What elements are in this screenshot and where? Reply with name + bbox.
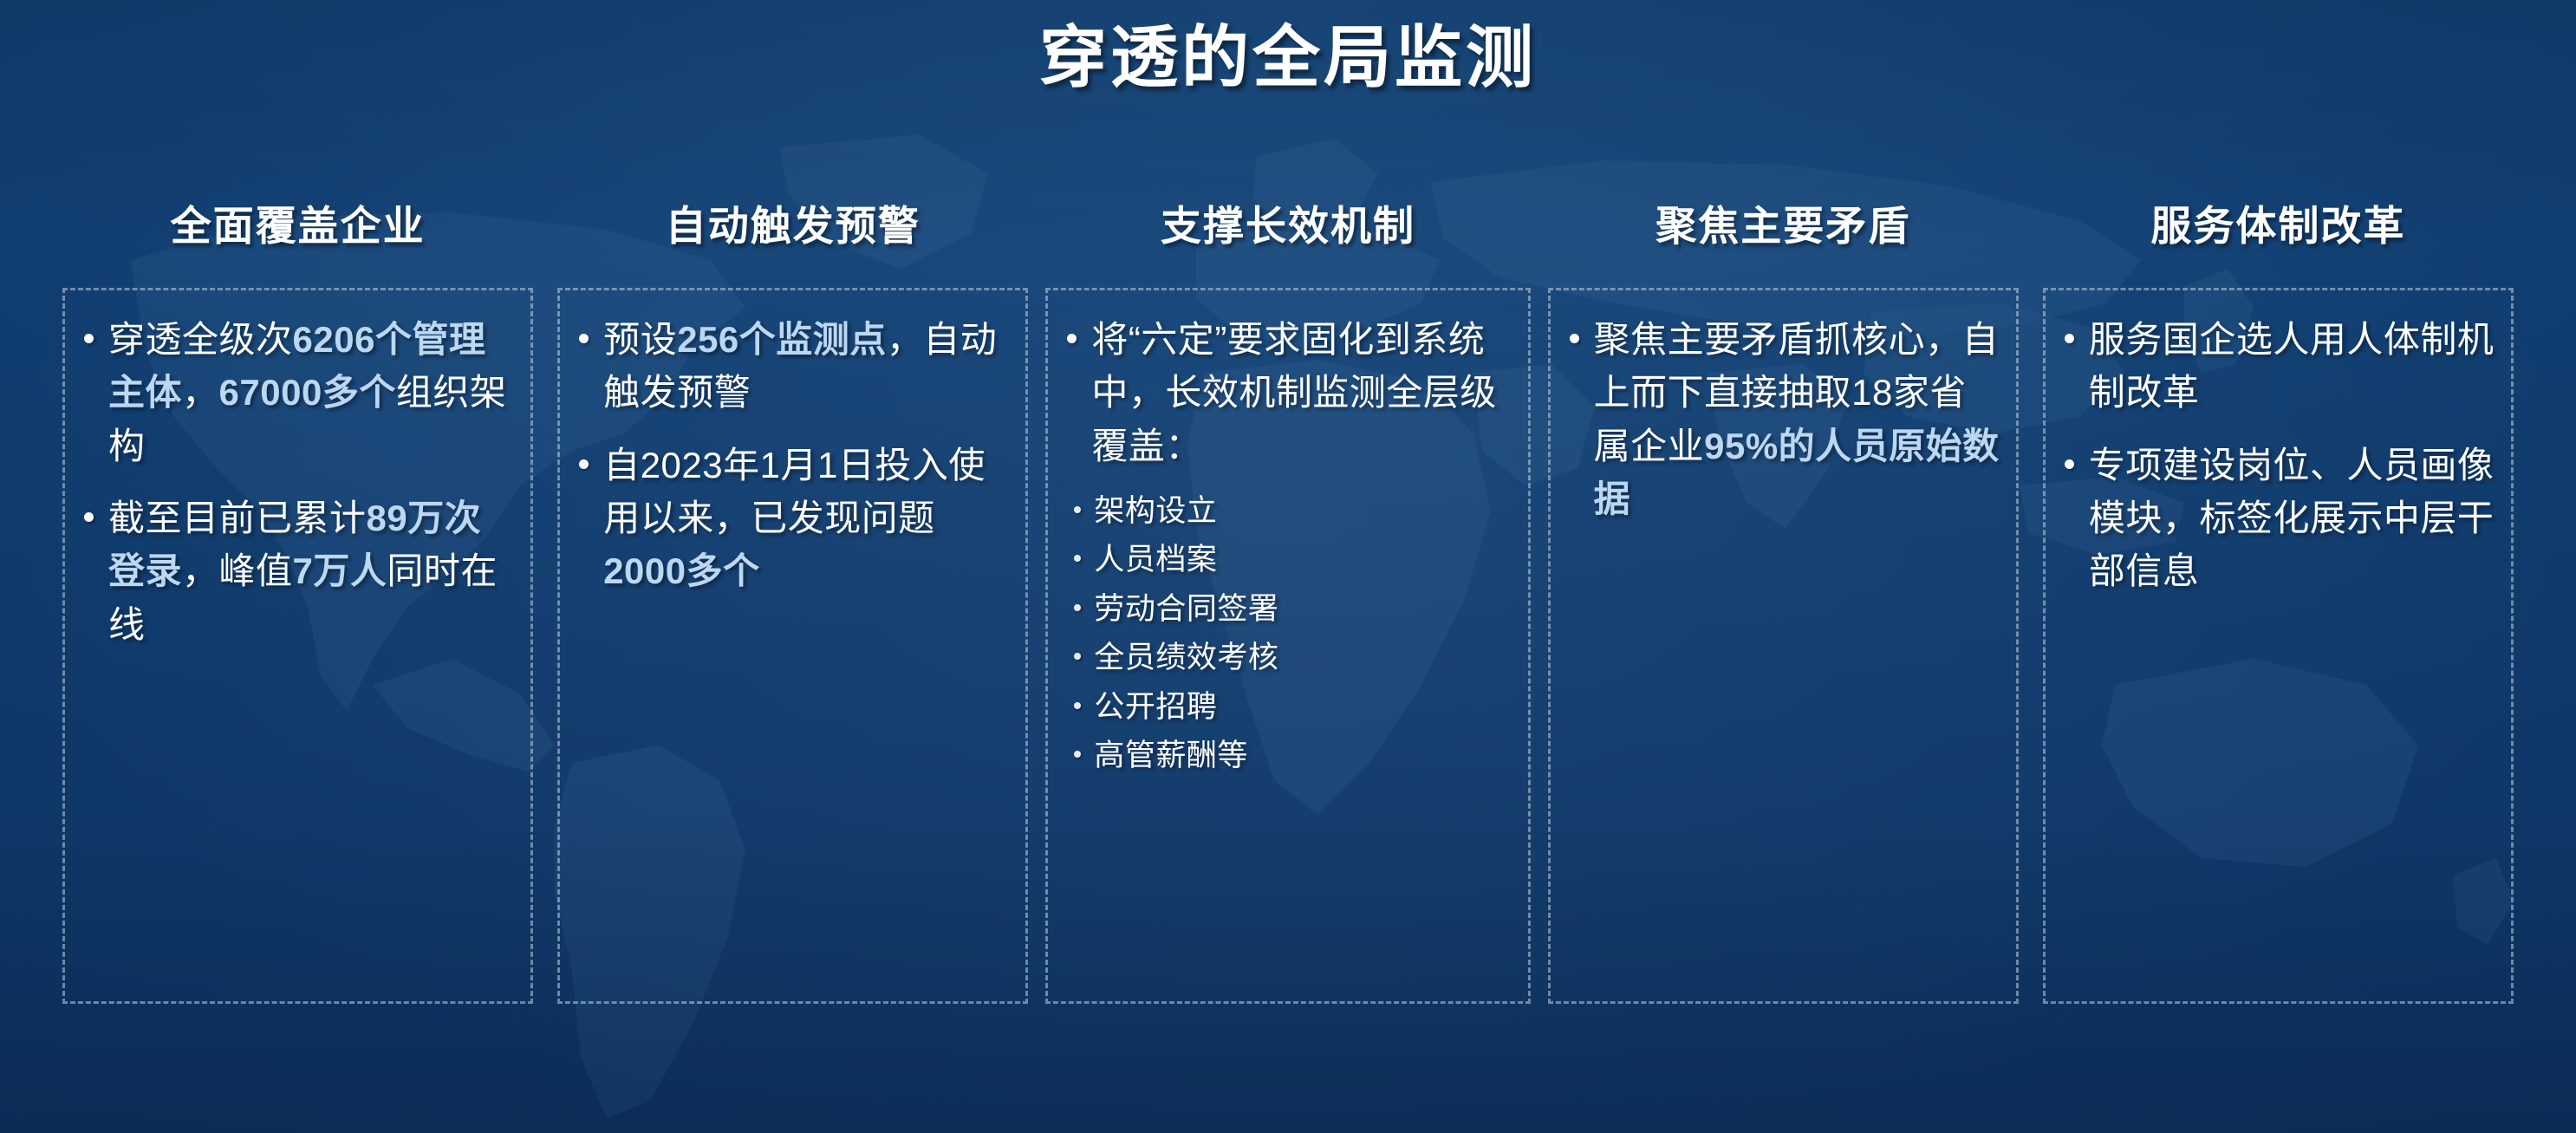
sub-list-item: 人员档案: [1069, 540, 1512, 580]
column-header: 服务体制改革: [2031, 192, 2526, 252]
sub-bullet-text: 公开招聘: [1094, 687, 1217, 727]
list-item: 预设256个监测点，自动触发预警: [576, 313, 1010, 420]
bullet-dot-icon: [579, 459, 589, 469]
sub-list-item: 架构设立: [1069, 492, 1512, 531]
column-header: 聚焦主要矛盾: [1536, 192, 2031, 252]
sub-list-item: 高管薪酬等: [1069, 736, 1512, 776]
column-content-box: 预设256个监测点，自动触发预警 自2023年1月1日投入使用以来，已发现问题2…: [557, 288, 1028, 1004]
bullet-text: 专项建设岗位、人员画像模块，标签化展示中层干部信息: [2089, 439, 2495, 598]
list-item: 自2023年1月1日投入使用以来，已发现问题2000多个: [576, 439, 1010, 598]
bullet-dot-icon: [1067, 334, 1077, 343]
list-item: 聚焦主要矛盾抓核心，自上而下直接抽取18家省属企业95%的人员原始数据: [1566, 313, 2000, 525]
list-item: 截至目前已累计89万次登录，峰值7万人同时在线: [81, 492, 515, 651]
bullet-list: 服务国企选人用人体制机制改革 专项建设岗位、人员画像模块，标签化展示中层干部信息: [2061, 313, 2495, 598]
column-auto-alert: 自动触发预警 预设256个监测点，自动触发预警 自2023年1月1日投入使用以来…: [545, 192, 1040, 1004]
bullet-dot-icon: [84, 334, 94, 343]
sub-bullet-dot-icon: [1074, 751, 1081, 758]
bullet-dot-icon: [2065, 459, 2074, 469]
sub-bullet-text: 高管薪酬等: [1094, 736, 1248, 776]
sub-bullet-dot-icon: [1074, 506, 1081, 513]
bullet-text: 截至目前已累计89万次登录，峰值7万人同时在线: [108, 492, 515, 651]
bullet-text: 将“六定”要求固化到系统中，长效机制监测全层级覆盖：: [1091, 313, 1512, 472]
column-header: 全面覆盖企业: [50, 192, 545, 252]
column-long-term-mechanism: 支撑长效机制 将“六定”要求固化到系统中，长效机制监测全层级覆盖： 架构设立 人…: [1040, 192, 1535, 1004]
sub-list-item: 劳动合同签署: [1069, 589, 1512, 629]
columns-container: 全面覆盖企业 穿透全级次6206个管理主体，67000多个组织架构 截至目前已累…: [0, 192, 2576, 1004]
bullet-text: 聚焦主要矛盾抓核心，自上而下直接抽取18家省属企业95%的人员原始数据: [1594, 313, 2000, 525]
column-content-box: 穿透全级次6206个管理主体，67000多个组织架构 截至目前已累计89万次登录…: [62, 288, 533, 1004]
sub-bullet-text: 全员绩效考核: [1094, 638, 1278, 678]
sub-bullet-dot-icon: [1074, 653, 1081, 660]
bullet-text: 自2023年1月1日投入使用以来，已发现问题2000多个: [603, 439, 1010, 598]
bullet-dot-icon: [84, 512, 94, 522]
bullet-text: 穿透全级次6206个管理主体，67000多个组织架构: [108, 313, 515, 472]
sub-list-item: 公开招聘: [1069, 687, 1512, 727]
bullet-list: 聚焦主要矛盾抓核心，自上而下直接抽取18家省属企业95%的人员原始数据: [1566, 313, 2000, 525]
column-main-contradiction: 聚焦主要矛盾 聚焦主要矛盾抓核心，自上而下直接抽取18家省属企业95%的人员原始…: [1536, 192, 2031, 1004]
column-content-box: 将“六定”要求固化到系统中，长效机制监测全层级覆盖： 架构设立 人员档案 劳动合…: [1045, 288, 1530, 1004]
list-item: 服务国企选人用人体制机制改革: [2061, 313, 2495, 420]
bullet-text: 服务国企选人用人体制机制改革: [2089, 313, 2495, 420]
sub-bullet-text: 人员档案: [1094, 540, 1217, 580]
sub-bullet-dot-icon: [1074, 604, 1081, 611]
column-header: 自动触发预警: [545, 192, 1040, 252]
column-full-coverage: 全面覆盖企业 穿透全级次6206个管理主体，67000多个组织架构 截至目前已累…: [50, 192, 545, 1004]
bullet-dot-icon: [579, 334, 589, 343]
sub-bullet-dot-icon: [1074, 702, 1081, 709]
sub-bullet-list: 架构设立 人员档案 劳动合同签署 全员绩效考核 公开招聘 高管薪酬等: [1064, 492, 1512, 776]
bullet-list: 穿透全级次6206个管理主体，67000多个组织架构 截至目前已累计89万次登录…: [81, 313, 515, 651]
column-header: 支撑长效机制: [1040, 192, 1535, 252]
bullet-text: 预设256个监测点，自动触发预警: [603, 313, 1010, 420]
bullet-list: 预设256个监测点，自动触发预警 自2023年1月1日投入使用以来，已发现问题2…: [576, 313, 1010, 598]
bullet-list: 将“六定”要求固化到系统中，长效机制监测全层级覆盖：: [1064, 313, 1512, 472]
sub-bullet-text: 劳动合同签署: [1094, 589, 1278, 629]
list-item: 穿透全级次6206个管理主体，67000多个组织架构: [81, 313, 515, 472]
page-title: 穿透的全局监测: [0, 19, 2576, 97]
sub-bullet-dot-icon: [1074, 555, 1081, 562]
sub-bullet-text: 架构设立: [1094, 492, 1217, 531]
bullet-dot-icon: [1570, 334, 1579, 343]
column-content-box: 聚焦主要矛盾抓核心，自上而下直接抽取18家省属企业95%的人员原始数据: [1548, 288, 2019, 1004]
column-system-reform: 服务体制改革 服务国企选人用人体制机制改革 专项建设岗位、人员画像模块，标签化展…: [2031, 192, 2526, 1004]
list-item: 专项建设岗位、人员画像模块，标签化展示中层干部信息: [2061, 439, 2495, 598]
sub-list-item: 全员绩效考核: [1069, 638, 1512, 678]
column-content-box: 服务国企选人用人体制机制改革 专项建设岗位、人员画像模块，标签化展示中层干部信息: [2043, 288, 2514, 1004]
bullet-dot-icon: [2065, 334, 2074, 343]
list-item: 将“六定”要求固化到系统中，长效机制监测全层级覆盖：: [1064, 313, 1512, 472]
